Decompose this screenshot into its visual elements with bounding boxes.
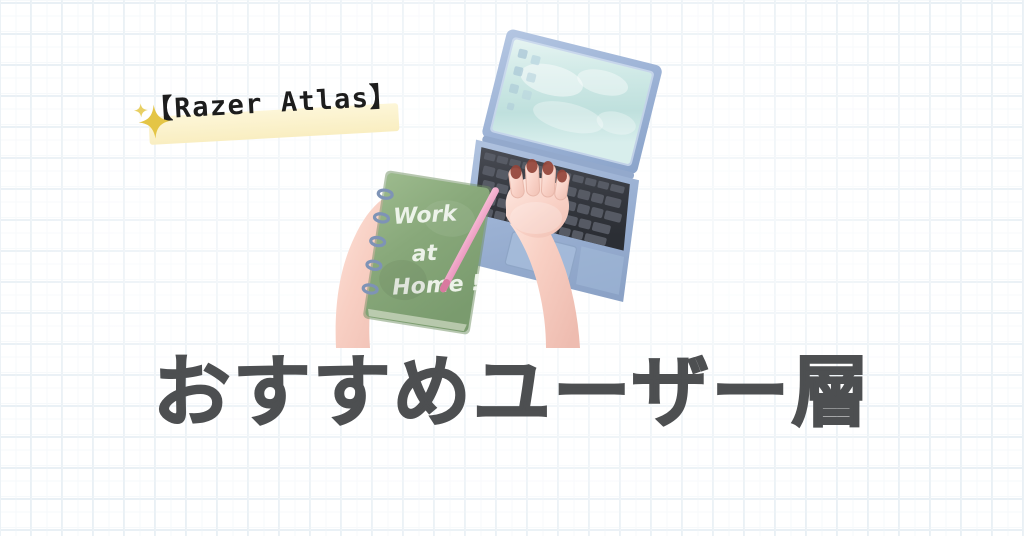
sparkle-icon [131,100,173,144]
notebook-line-2: at [411,241,439,267]
work-at-home-illustration: Work at Home ! [318,18,678,348]
poster-canvas: Work at Home ! [0,0,1024,536]
page-title: おすすめユーザー層 [0,345,1024,441]
